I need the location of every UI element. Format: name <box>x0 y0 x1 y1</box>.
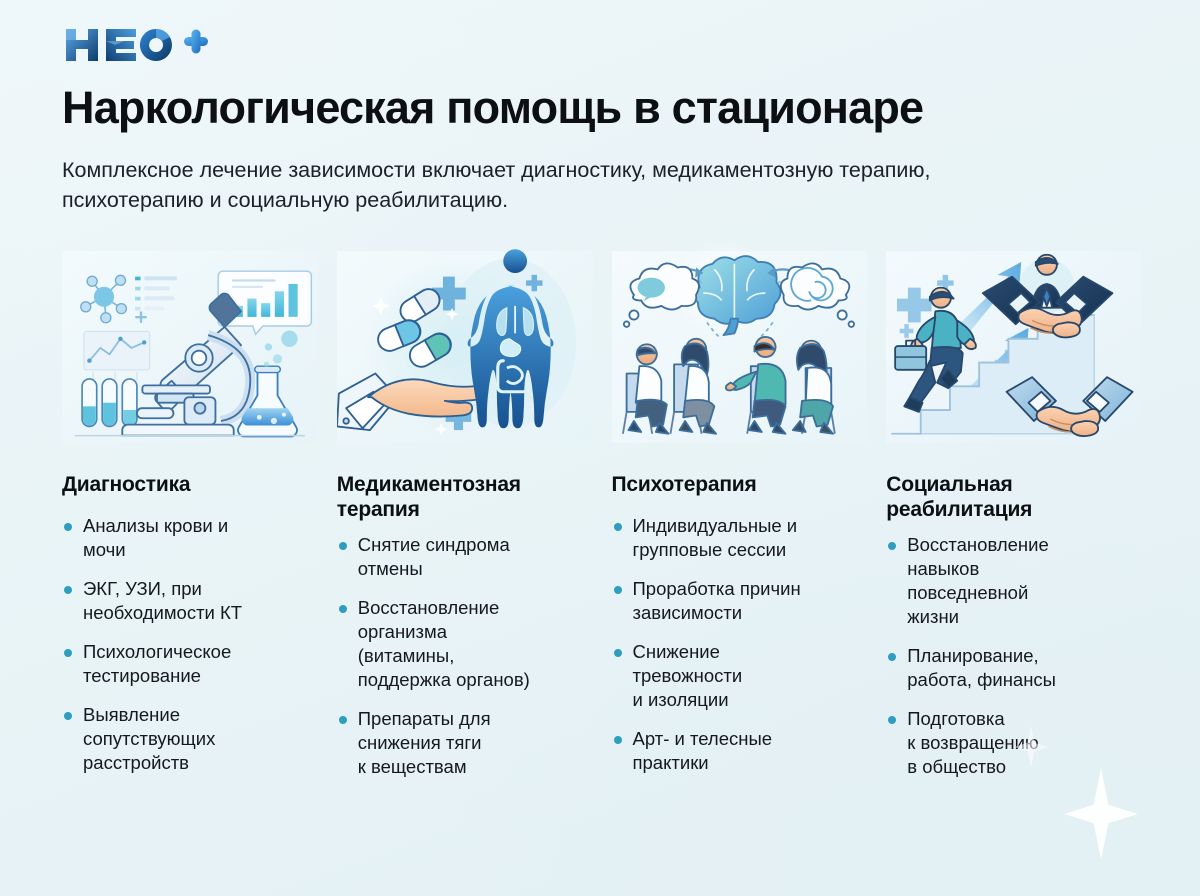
neo-plus-logo-icon <box>64 25 210 65</box>
list-item: ЭКГ, УЗИ, при необходимости КТ <box>62 577 318 625</box>
list-item: Проработка причин зависимости <box>612 577 868 625</box>
brand-logo <box>64 22 1142 68</box>
bullet-list-psychotherapy: Индивидуальные и групповые сессии Прораб… <box>612 514 868 790</box>
list-item: Снятие синдрома отмены <box>337 533 593 581</box>
column-title-diagnostics: Диагностика <box>62 472 318 498</box>
list-item: Арт- и телесные практики <box>612 727 868 775</box>
bullet-list-social-rehabilitation: Восстановление навыков повседневной жизн… <box>886 533 1142 794</box>
list-item: Восстановление навыков повседневной жизн… <box>886 533 1142 629</box>
list-item: Психологическое тестирование <box>62 640 318 688</box>
list-item: Планирование, работа, финансы <box>886 644 1142 692</box>
column-social-rehabilitation: Социальная реабилитация Восстановление н… <box>886 244 1142 795</box>
column-diagnostics: Диагностика Анализы крови и мочи ЭКГ, УЗ… <box>62 244 318 795</box>
list-item: Индивидуальные и групповые сессии <box>612 514 868 562</box>
list-item: Восстановление организма (витамины, подд… <box>337 596 593 692</box>
list-item: Препараты для снижения тяги к веществам <box>337 707 593 779</box>
list-item: Анализы крови и мочи <box>62 514 318 562</box>
microscope-lab-diagnostics-illustration <box>62 244 318 450</box>
infographic-page: Наркологическая помощь в стационаре Комп… <box>0 0 1200 896</box>
page-title: Наркологическая помощь в стационаре <box>62 84 1142 133</box>
group-therapy-brain-illustration <box>612 244 868 450</box>
career-stairs-handshake-illustration <box>886 244 1142 450</box>
hand-pills-human-body-illustration <box>337 244 593 450</box>
service-columns: Диагностика Анализы крови и мочи ЭКГ, УЗ… <box>62 244 1142 795</box>
page-subtitle: Комплексное лечение зависимости включает… <box>62 155 942 216</box>
column-title-psychotherapy: Психотерапия <box>612 472 868 498</box>
list-item: Снижение тревожности и изоляции <box>612 640 868 712</box>
bullet-list-diagnostics: Анализы крови и мочи ЭКГ, УЗИ, при необх… <box>62 514 318 790</box>
column-title-social-rehabilitation: Социальная реабилитация <box>886 472 1142 522</box>
bullet-list-medication-therapy: Снятие синдрома отмены Восстановление ор… <box>337 533 593 794</box>
column-medication-therapy: Медикаментозная терапия Снятие синдрома … <box>337 244 593 795</box>
column-psychotherapy: Психотерапия Индивидуальные и групповые … <box>612 244 868 795</box>
list-item: Выявление сопутствующих расстройств <box>62 703 318 775</box>
column-title-medication-therapy: Медикаментозная терапия <box>337 472 593 522</box>
list-item: Подготовка к возвращению в общество <box>886 707 1142 779</box>
